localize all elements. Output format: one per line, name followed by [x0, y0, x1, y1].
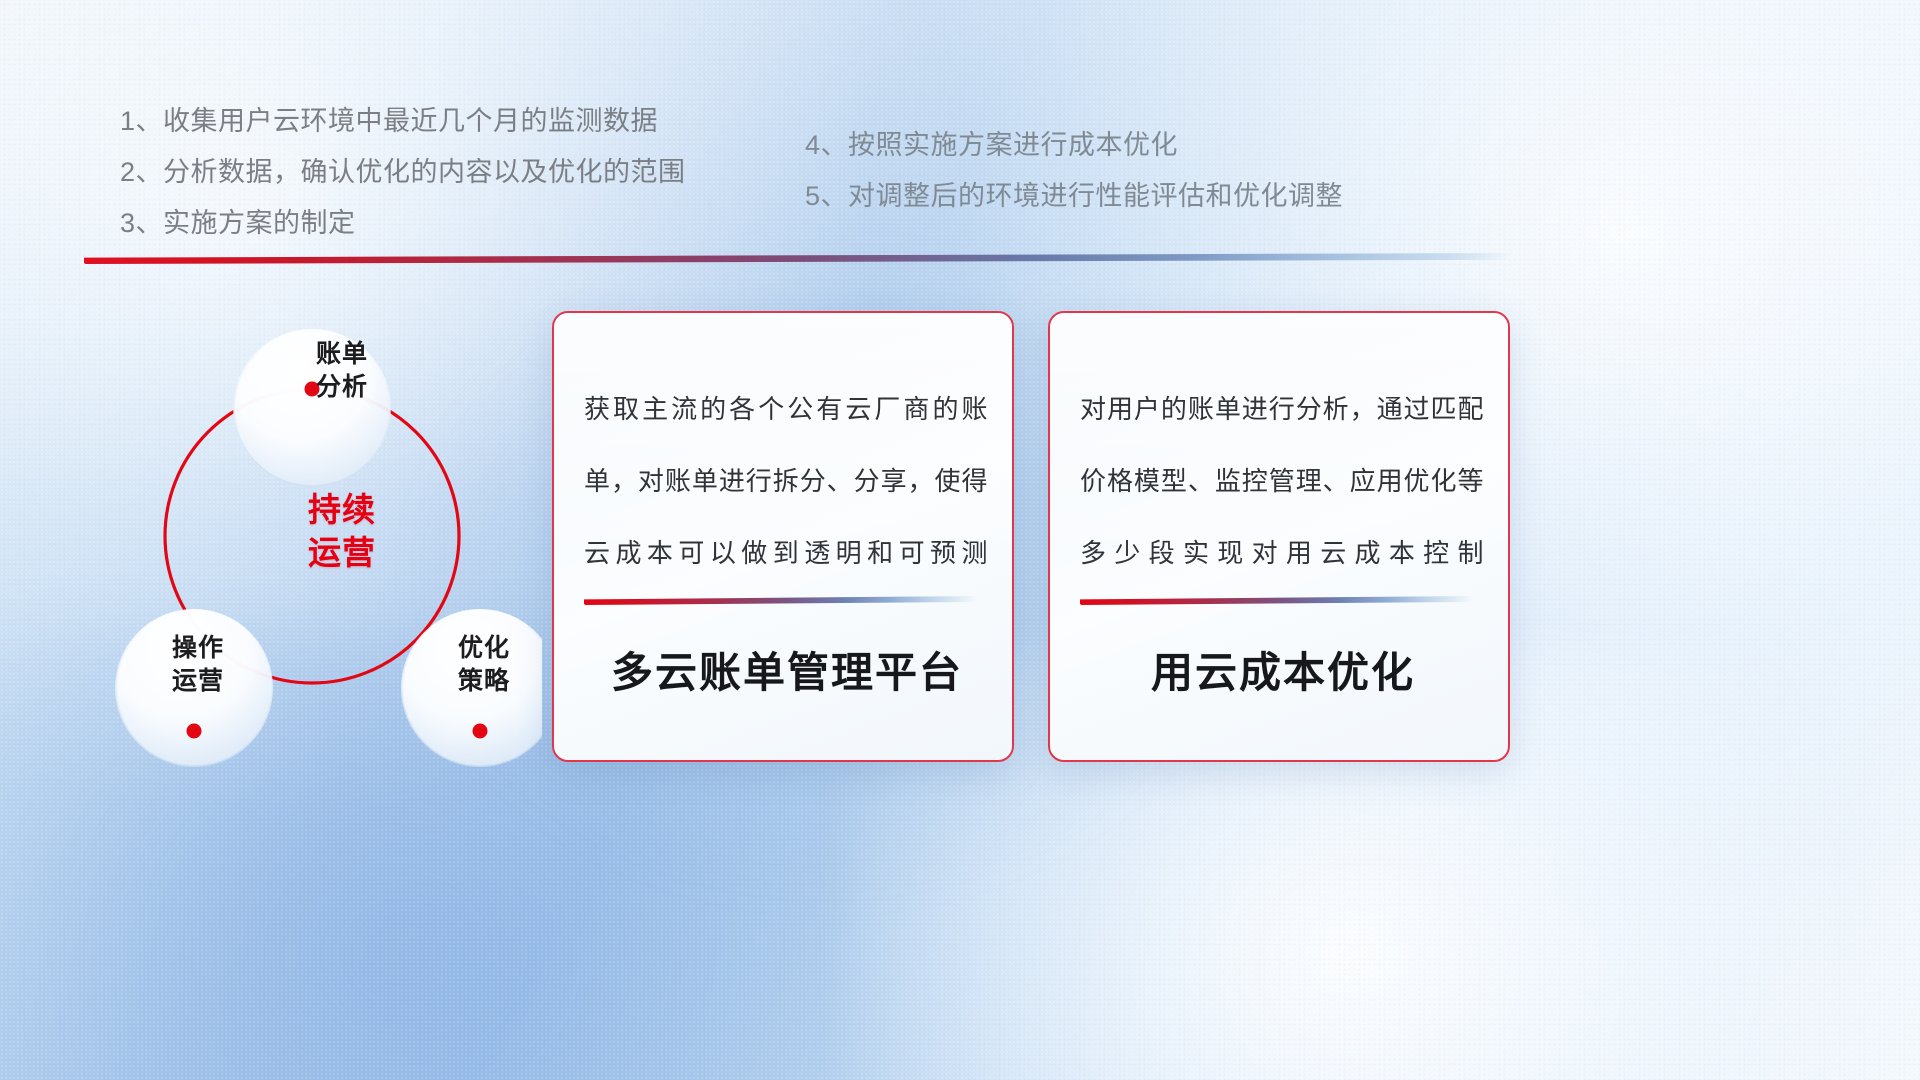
venn-center-label: 持续 运营: [252, 488, 432, 574]
step-item-5: 5、对调整后的环境进行性能评估和优化调整: [805, 171, 1505, 222]
feature-card-cloud-cost-optimization[interactable]: 对用户的账单进行分析，通过匹配价格模型、监控管理、应用优化等多少段实现对用云成本…: [1048, 311, 1510, 762]
step-item-3: 3、实施方案的制定: [120, 198, 760, 249]
venn-node-bl-line1: 操作: [118, 632, 278, 665]
step-item-1: 1、收集用户云环境中最近几个月的监测数据: [120, 96, 760, 147]
connector-dot-bottom-right: [473, 724, 488, 739]
venn-node-label-bottom-left: 操作 运营: [118, 632, 278, 698]
card-title: 多云账单管理平台: [582, 643, 992, 703]
card-body-text: 获取主流的各个公有云厂商的账单，对账单进行拆分、分享，使得云成本可以做到透明和可…: [584, 373, 988, 589]
venn-node-label-bottom-right: 优化 策略: [404, 632, 564, 698]
card-divider-rule: [584, 596, 976, 605]
venn-center-line2: 运营: [252, 531, 432, 574]
steps-right-column: 4、按照实施方案进行成本优化 5、对调整后的环境进行性能评估和优化调整: [805, 120, 1505, 222]
venn-center-line1: 持续: [252, 488, 432, 531]
continuous-operation-diagram: 账单 分析 操作 运营 优化 策略 持续 运营: [72, 288, 542, 768]
card-divider-rule: [1080, 596, 1472, 605]
venn-node-br-line2: 策略: [404, 665, 564, 698]
venn-node-top-line1: 账单: [262, 338, 422, 371]
venn-node-label-top: 账单 分析: [262, 338, 422, 404]
card-title: 用云成本优化: [1078, 643, 1488, 703]
venn-node-bl-line2: 运营: [118, 665, 278, 698]
step-item-2: 2、分析数据，确认优化的内容以及优化的范围: [120, 147, 760, 198]
feature-card-multicloud-billing[interactable]: 获取主流的各个公有云厂商的账单，对账单进行拆分、分享，使得云成本可以做到透明和可…: [552, 311, 1014, 762]
connector-dot-bottom-left: [187, 724, 202, 739]
venn-node-top-line2: 分析: [262, 371, 422, 404]
steps-left-column: 1、收集用户云环境中最近几个月的监测数据 2、分析数据，确认优化的内容以及优化的…: [120, 96, 760, 249]
step-item-4: 4、按照实施方案进行成本优化: [805, 120, 1505, 171]
venn-node-br-line1: 优化: [404, 632, 564, 665]
card-body-text: 对用户的账单进行分析，通过匹配价格模型、监控管理、应用优化等多少段实现对用云成本…: [1080, 373, 1484, 589]
